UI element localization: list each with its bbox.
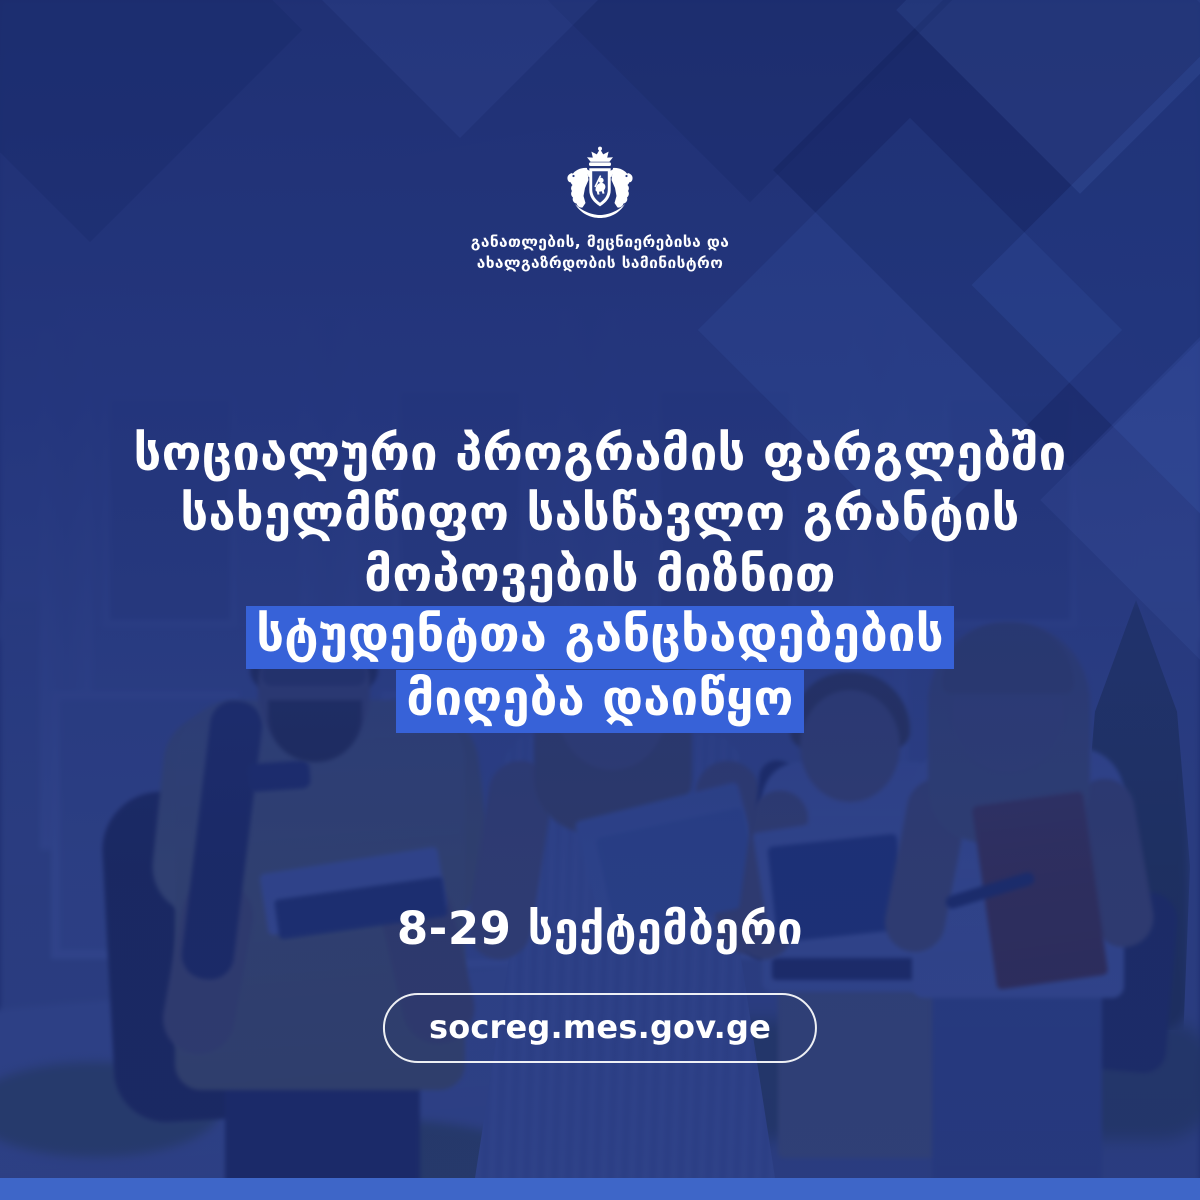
headline-line-5-highlighted: მიღება დაიწყო	[0, 669, 1200, 733]
ministry-name: განათლების, მეცნიერებისა და ახალგაზრდობი…	[0, 232, 1200, 275]
headline-block: სოციალური პროგრამის ფარგლებში სახელმწიფო…	[0, 424, 1200, 733]
georgian-coat-of-arms-icon	[563, 146, 637, 222]
bottom-accent-bar	[0, 1178, 1200, 1200]
ministry-logo-block: განათლების, მეცნიერებისა და ახალგაზრდობი…	[0, 146, 1200, 275]
ministry-name-line-2: ახალგაზრდობის სამინისტრო	[0, 253, 1200, 274]
poster-canvas: განათლების, მეცნიერებისა და ახალგაზრდობი…	[0, 0, 1200, 1200]
headline-line-4-text: სტუდენტთა განცხადებების	[246, 606, 954, 669]
headline-line-3: მოპოვების მიზნით	[0, 545, 1200, 605]
headline-line-4-highlighted: სტუდენტთა განცხადებების	[0, 605, 1200, 669]
headline-line-1: სოციალური პროგრამის ფარგლებში	[0, 424, 1200, 484]
website-url-pill[interactable]: socreg.mes.gov.ge	[383, 993, 817, 1063]
headline-line-2: სახელმწიფო სასწავლო გრანტის	[0, 484, 1200, 544]
headline-line-5-text: მიღება დაიწყო	[396, 670, 803, 733]
ministry-name-line-1: განათლების, მეცნიერებისა და	[0, 232, 1200, 253]
date-range: 8-29 სექტემბერი	[0, 902, 1200, 955]
